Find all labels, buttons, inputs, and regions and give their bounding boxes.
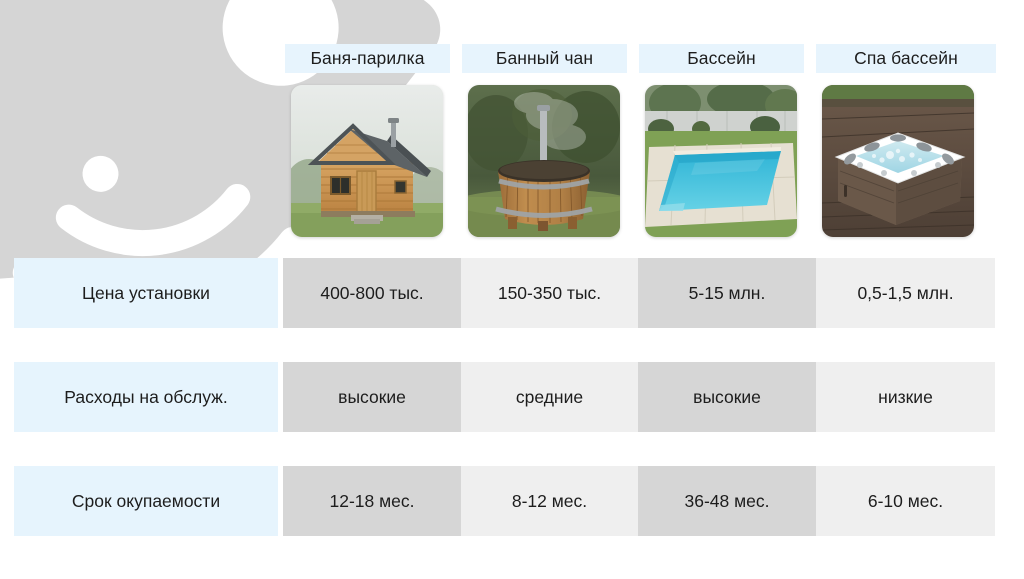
column-header-chip-1: Баня-парилка (285, 44, 450, 73)
table-cell-r1c1: средние (461, 362, 638, 432)
table-cell-r1c0: высокие (283, 362, 461, 432)
row-label-2: Срок окупаемости (14, 466, 278, 536)
table-cell-r2c1: 8-12 мес. (461, 466, 638, 536)
comparison-table-page: Баня-парилка Банный чан Бассейн Спа басс… (0, 0, 1024, 579)
table-cell-r2c3: 6-10 мес. (816, 466, 995, 536)
table-cell-r2c0: 12-18 мес. (283, 466, 461, 536)
table-cell-r1c3: низкие (816, 362, 995, 432)
column-header-chip-3: Бассейн (639, 44, 804, 73)
column-image-swimming-pool (645, 85, 797, 237)
column-image-spa-jacuzzi (822, 85, 974, 237)
row-label-1: Расходы на обслуж. (14, 362, 278, 432)
comparison-table: Баня-парилка Банный чан Бассейн Спа басс… (0, 0, 1024, 579)
table-cell-r0c1: 150-350 тыс. (461, 258, 638, 328)
column-image-wooden-hot-tub (468, 85, 620, 237)
column-header-chip-2: Банный чан (462, 44, 627, 73)
row-label-0: Цена установки (14, 258, 278, 328)
table-cell-r0c0: 400-800 тыс. (283, 258, 461, 328)
column-header-chip-4: Спа бассейн (816, 44, 996, 73)
table-cell-r2c2: 36-48 мес. (638, 466, 816, 536)
table-cell-r1c2: высокие (638, 362, 816, 432)
column-image-log-sauna-cabin (291, 85, 443, 237)
table-cell-r0c2: 5-15 млн. (638, 258, 816, 328)
table-cell-r0c3: 0,5-1,5 млн. (816, 258, 995, 328)
